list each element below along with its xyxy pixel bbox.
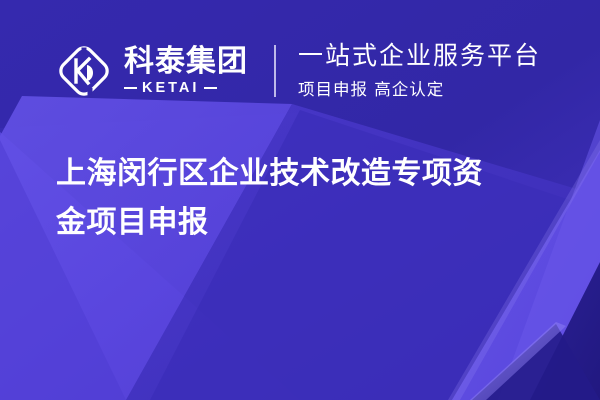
banner-header: 科泰集团 KETAI 一站式企业服务平台 项目申报 高企认定 bbox=[56, 36, 541, 106]
logo-wordmark: 科泰集团 KETAI bbox=[124, 47, 248, 96]
tagline-block: 一站式企业服务平台 项目申报 高企认定 bbox=[298, 42, 541, 101]
tagline-main: 一站式企业服务平台 bbox=[298, 42, 541, 71]
banner-headline: 上海闵行区企业技术改造专项资金项目申报 bbox=[56, 150, 486, 247]
logo-name-en: KETAI bbox=[124, 81, 248, 96]
logo-dash-right-icon bbox=[204, 87, 217, 90]
tagline-sub: 项目申报 高企认定 bbox=[298, 76, 541, 100]
company-logo: 科泰集团 KETAI bbox=[56, 36, 248, 106]
logo-dash-left-icon bbox=[124, 87, 137, 90]
ketai-diamond-kd-logo-icon bbox=[56, 43, 112, 99]
banner-content: 科泰集团 KETAI 一站式企业服务平台 项目申报 高企认定 上海闵行区企业技术… bbox=[0, 0, 600, 400]
logo-name-cn: 科泰集团 bbox=[124, 47, 248, 77]
logo-name-en-text: KETAI bbox=[142, 81, 199, 96]
promo-banner: 科泰集团 KETAI 一站式企业服务平台 项目申报 高企认定 上海闵行区企业技术… bbox=[0, 0, 600, 400]
header-divider bbox=[274, 45, 276, 97]
